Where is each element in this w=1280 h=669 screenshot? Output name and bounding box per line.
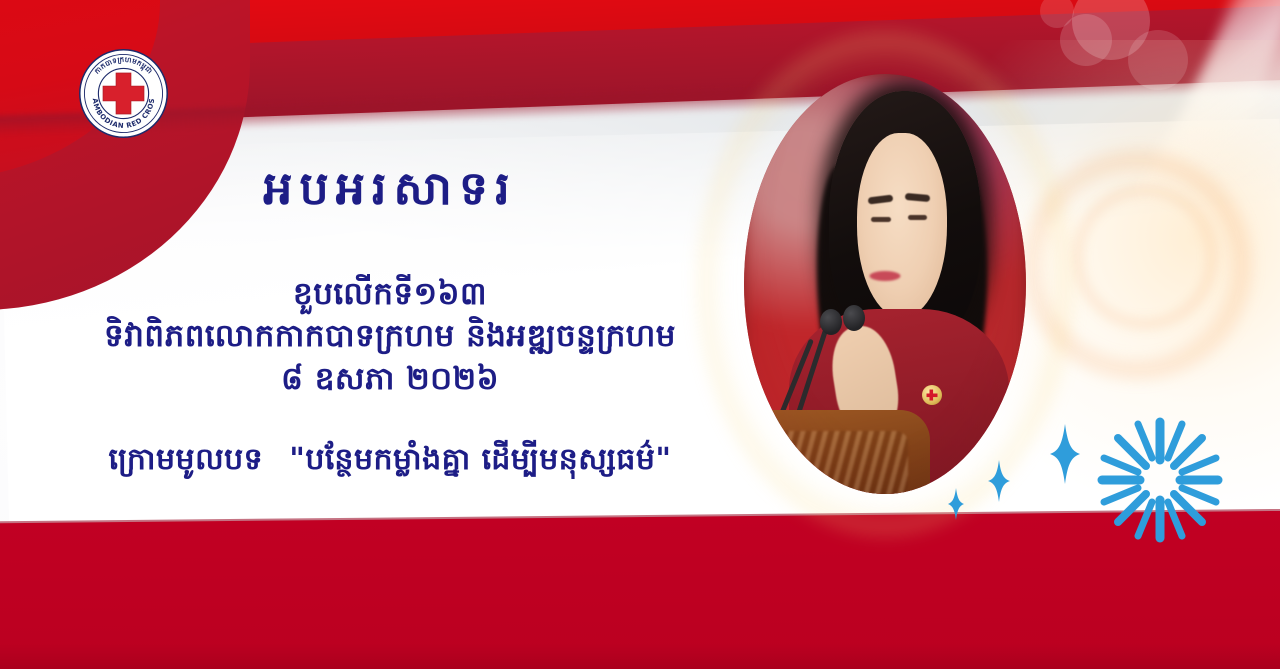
sparkle-large-icon	[1050, 424, 1080, 484]
theme-label: ក្រោមមូលបទ	[108, 442, 263, 477]
sparkle-small-icon	[948, 488, 964, 520]
photo-vignette	[744, 74, 1026, 494]
text-block: អបអរសាទរ ខួបលើកទី១៦៣ ទិវាពិភពលោកកាកបាទក្…	[60, 140, 720, 481]
firework-icon	[1080, 400, 1240, 560]
poster-canvas: កាកបាទក្រហមកម្ពុជា CAMBODIAN RED CROSS	[0, 0, 1280, 669]
page-title: អបអរសាទរ	[60, 160, 720, 218]
event-date: ៨ ឧសភា ២០២៦	[60, 359, 720, 400]
theme-line: ក្រោមមូលបទ"បន្ថែមកម្លាំងគ្នា ដើម្បីមនុស្…	[60, 440, 720, 481]
subtitle-event-name: ទិវាពិភពលោកកាកបាទក្រហម និងអឌ្ឍចន្ទក្រហម	[60, 316, 720, 357]
portrait-photo	[744, 74, 1026, 494]
theme-quote: "បន្ថែមកម្លាំងគ្នា ដើម្បីមនុស្សធម៌"	[289, 442, 671, 477]
portrait-frame	[724, 58, 1046, 510]
subtitle-anniversary: ខួបលើកទី១៦៣	[60, 274, 720, 315]
bottom-band-shade	[0, 643, 1280, 669]
sparkle-medium-icon	[988, 460, 1010, 502]
cambodian-red-cross-logo: កាកបាទក្រហមកម្ពុជា CAMBODIAN RED CROSS	[77, 47, 170, 140]
